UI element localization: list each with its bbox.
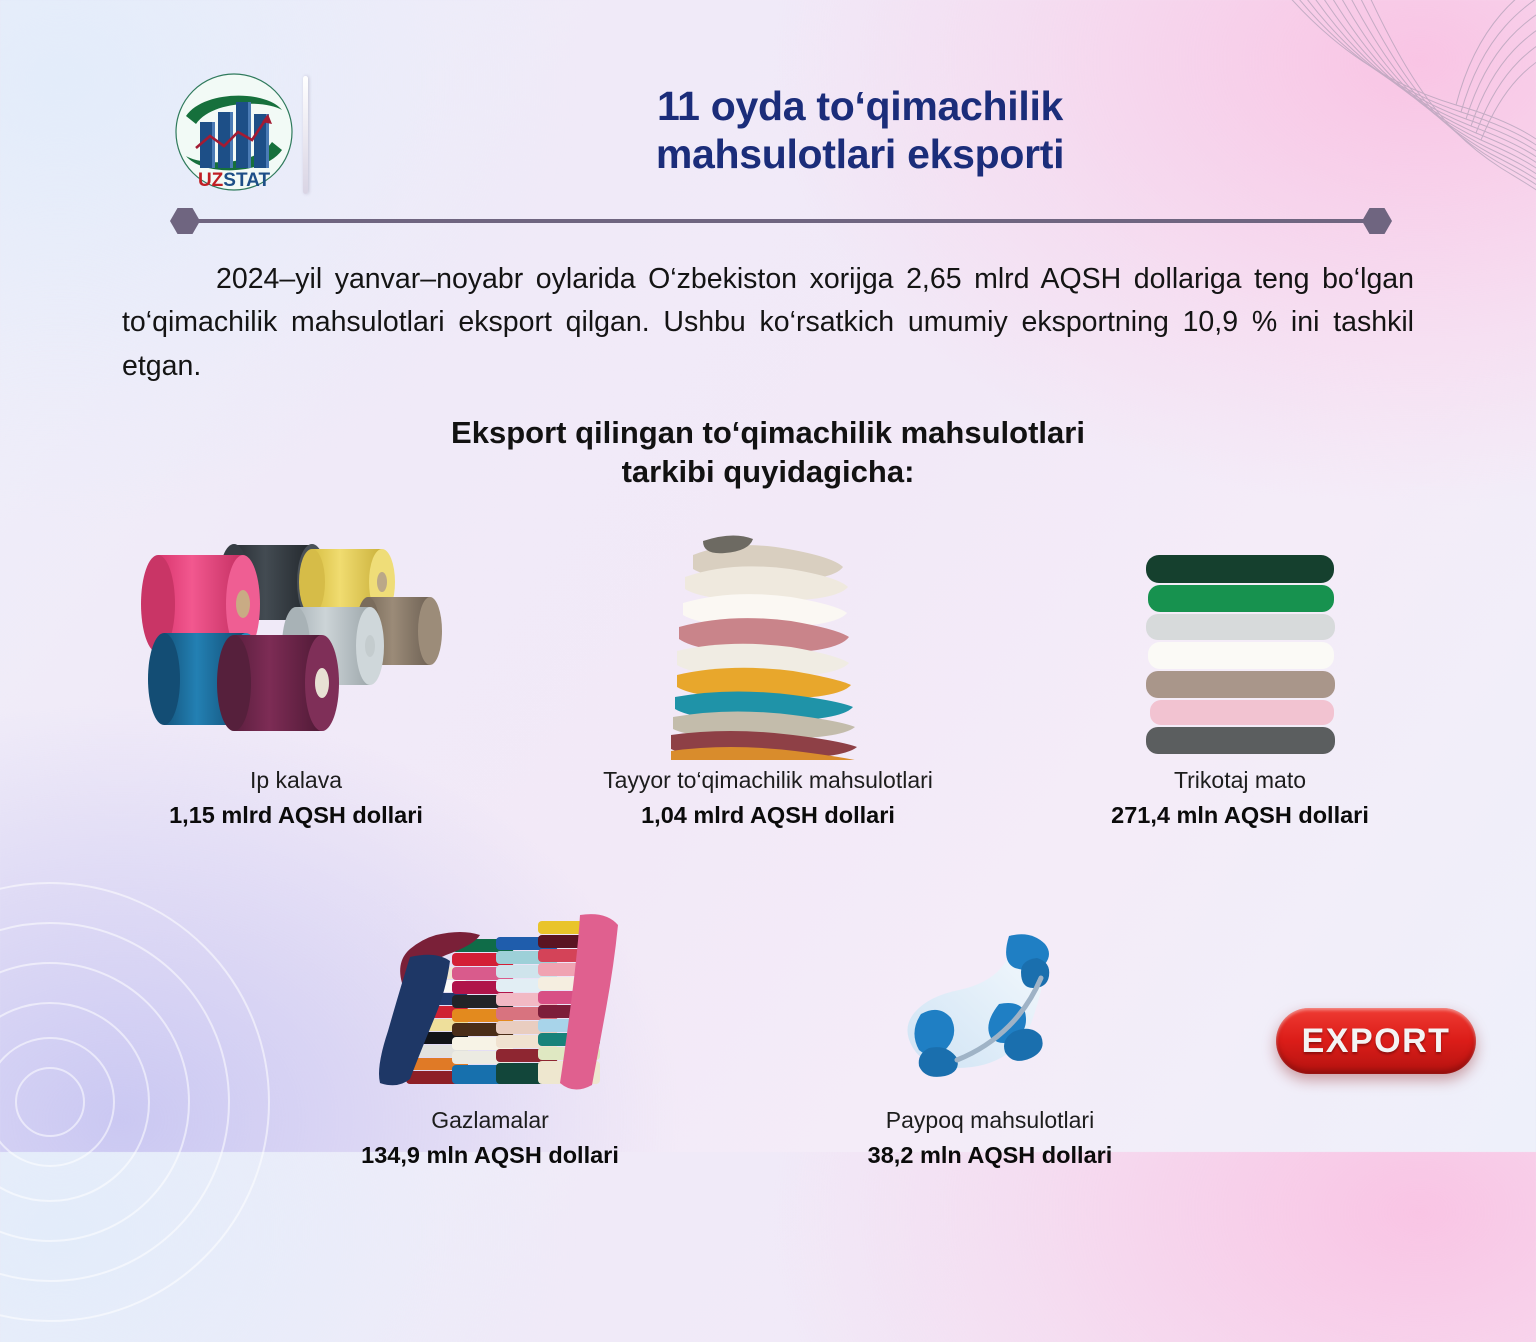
product-value: 1,04 mlrd AQSH dollari	[603, 798, 933, 832]
svg-text:UZSTAT: UZSTAT	[198, 170, 271, 191]
product-value: 134,9 mln AQSH dollari	[361, 1138, 619, 1172]
product-name: Tayyor to‘qimachilik mahsulotlari	[603, 766, 933, 796]
product-value: 1,15 mlrd AQSH dollari	[169, 798, 423, 832]
product-name: Paypoq mahsulotlari	[868, 1106, 1113, 1136]
yarn-cones-image	[136, 520, 456, 760]
hexagon-right-icon	[1362, 208, 1392, 234]
sock-image	[895, 860, 1085, 1100]
header: UZSTAT 11 oyda to‘qimachilik mahsulotlar…	[0, 62, 1536, 212]
product-value: 271,4 mln AQSH dollari	[1111, 798, 1369, 832]
product-row-1: Ip kalava 1,15 mlrd AQSH dollari	[60, 520, 1476, 832]
product-card-tayyor-mahsulotlar: Tayyor to‘qimachilik mahsulotlari 1,04 m…	[532, 520, 1004, 832]
product-card-gazlamalar: Gazlamalar 134,9 mln AQSH dollari	[240, 860, 740, 1172]
product-row-2: Gazlamalar 134,9 mln AQSH dollari	[240, 860, 1240, 1172]
knit-fabric-stack-image	[1138, 520, 1343, 760]
product-name: Ip kalava	[169, 766, 423, 796]
section-subheading: Eksport qilingan to‘qimachilik mahsulotl…	[268, 413, 1268, 492]
product-card-paypoq: Paypoq mahsulotlari 38,2 mln AQSH dollar…	[740, 860, 1240, 1172]
export-badge: EXPORT	[1276, 1008, 1476, 1074]
product-name: Gazlamalar	[361, 1106, 619, 1136]
folded-textiles-image	[663, 520, 873, 760]
product-value: 38,2 mln AQSH dollari	[868, 1138, 1113, 1172]
header-separator	[303, 76, 308, 194]
divider-line	[184, 219, 1378, 223]
uzstat-logo: UZSTAT	[170, 70, 298, 198]
page-title-line-1: 11 oyda to‘qimachilik	[330, 82, 1390, 130]
subheading-line-1: Eksport qilingan to‘qimachilik mahsulotl…	[268, 413, 1268, 452]
product-card-ip-kalava: Ip kalava 1,15 mlrd AQSH dollari	[60, 520, 532, 832]
page-title: 11 oyda to‘qimachilik mahsulotlari ekspo…	[330, 82, 1390, 179]
export-badge-label: EXPORT	[1302, 1022, 1451, 1061]
page-title-line-2: mahsulotlari eksporti	[330, 130, 1390, 178]
subheading-line-2: tarkibi quyidagicha:	[268, 452, 1268, 491]
intro-paragraph: 2024–yil yanvar–noyabr oylarida O‘zbekis…	[122, 258, 1414, 388]
fabric-rolls-image	[340, 860, 640, 1100]
product-card-trikotaj-mato: Trikotaj mato 271,4 mln AQSH dollari	[1004, 520, 1476, 832]
divider	[170, 208, 1392, 234]
product-name: Trikotaj mato	[1111, 766, 1369, 796]
